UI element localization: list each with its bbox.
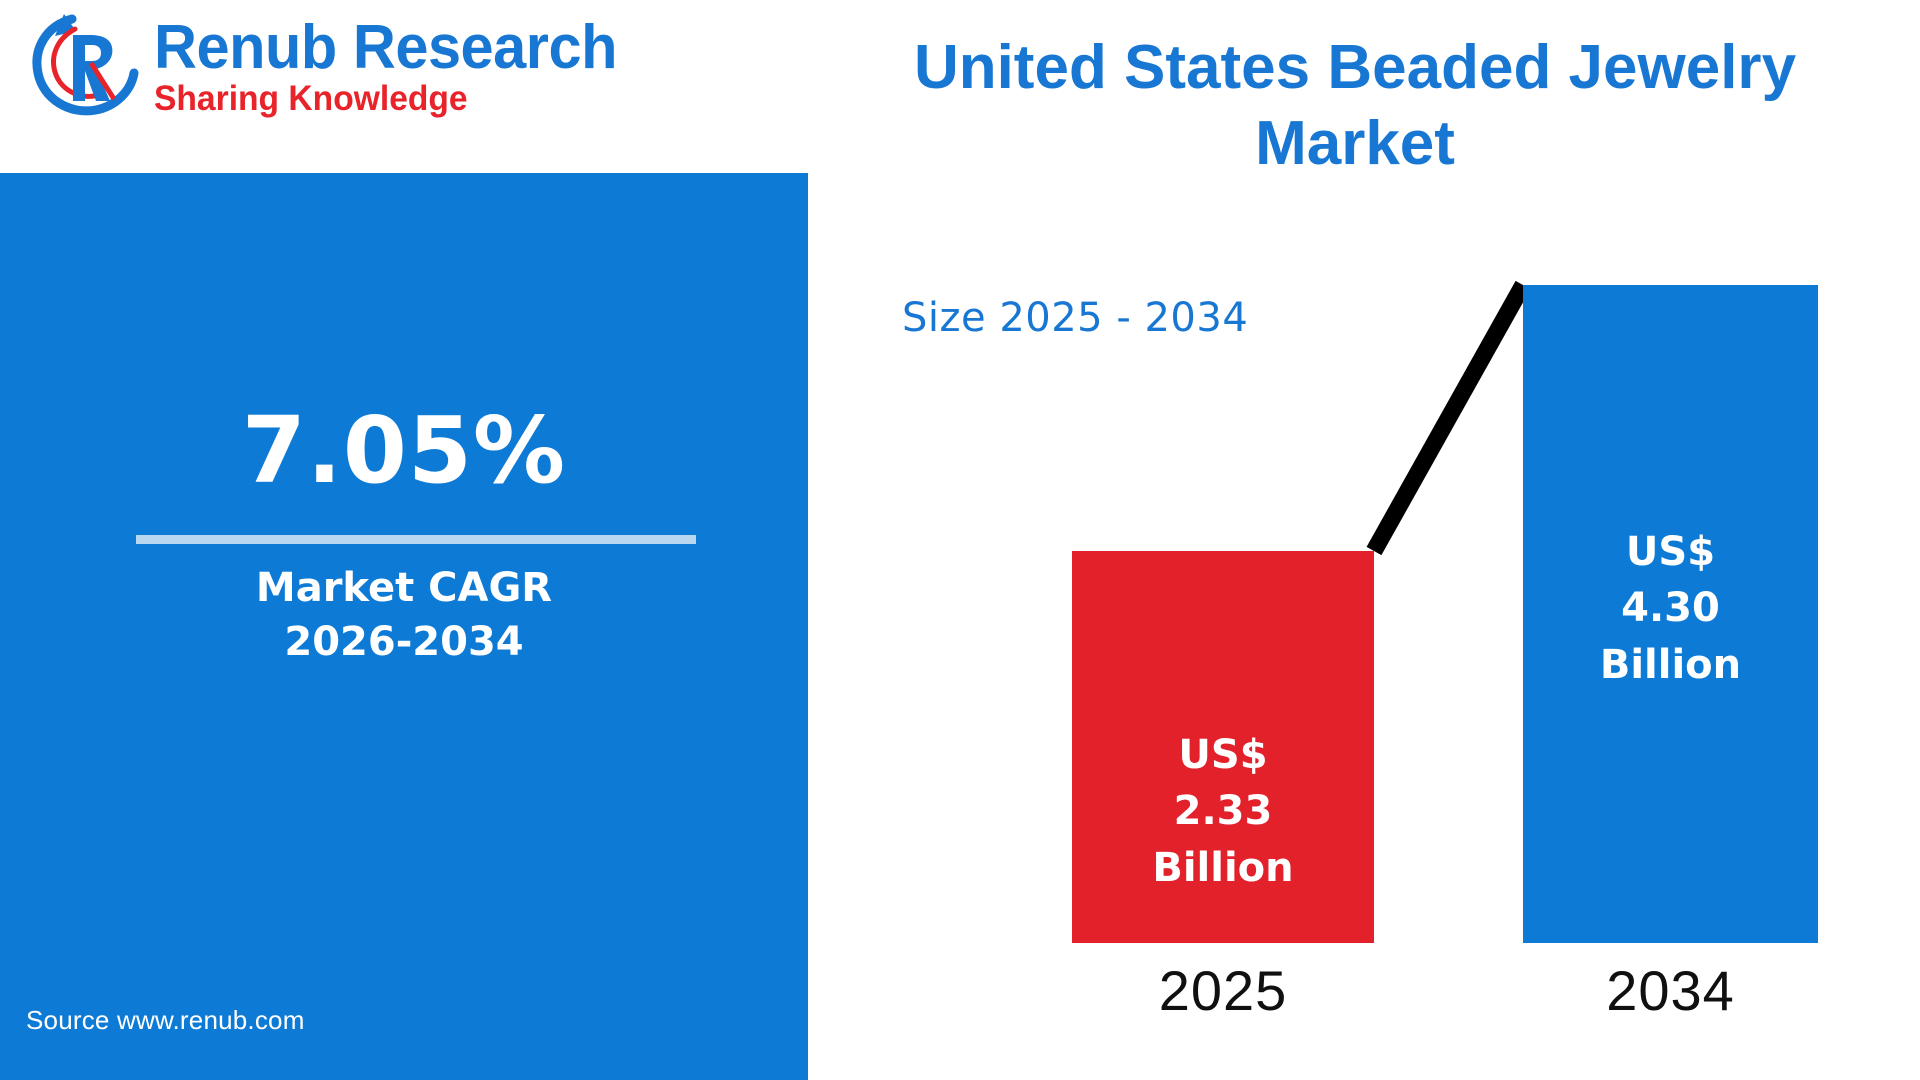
bar-2034-label: US$ 4.30 Billion [1600, 524, 1741, 694]
bar-2034-label-line-3: Billion [1600, 637, 1741, 694]
cagr-panel: 7.05% Market CAGR 2026-2034 Source www.r… [0, 173, 808, 1080]
brand-tagline: Sharing Knowledge [154, 81, 617, 116]
bar-chart: Size 2025 - 2034 US$ 2.33 Billion US$ 4.… [808, 0, 1920, 1080]
cagr-caption: Market CAGR 2026-2034 [0, 561, 808, 669]
cagr-divider [136, 535, 696, 544]
bar-2034-label-line-1: US$ [1600, 524, 1741, 581]
bar-2025-label-line-1: US$ [1152, 727, 1293, 784]
brand-wordmark: Renub Research [154, 17, 617, 79]
source-note: Source www.renub.com [26, 1005, 305, 1036]
brand-text: Renub Research Sharing Knowledge [154, 13, 636, 116]
cagr-value: 7.05% [0, 397, 808, 504]
renub-r-circular-arrow-logo [28, 5, 146, 123]
bar-2025-label-line-2: 2.33 [1152, 783, 1293, 840]
axis-label-2025: 2025 [1072, 958, 1374, 1023]
brand-logo: Renub Research Sharing Knowledge [28, 2, 648, 126]
bar-2034: US$ 4.30 Billion [1523, 285, 1818, 943]
bar-2025: US$ 2.33 Billion [1072, 551, 1374, 943]
axis-label-2034: 2034 [1523, 958, 1818, 1023]
bar-2025-label-line-3: Billion [1152, 840, 1293, 897]
bar-2025-label: US$ 2.33 Billion [1152, 727, 1293, 897]
chart-subtitle: Size 2025 - 2034 [902, 295, 1248, 341]
cagr-caption-line-2: 2026-2034 [0, 615, 808, 669]
bar-2034-label-line-2: 4.30 [1600, 580, 1741, 637]
cagr-caption-line-1: Market CAGR [0, 561, 808, 615]
